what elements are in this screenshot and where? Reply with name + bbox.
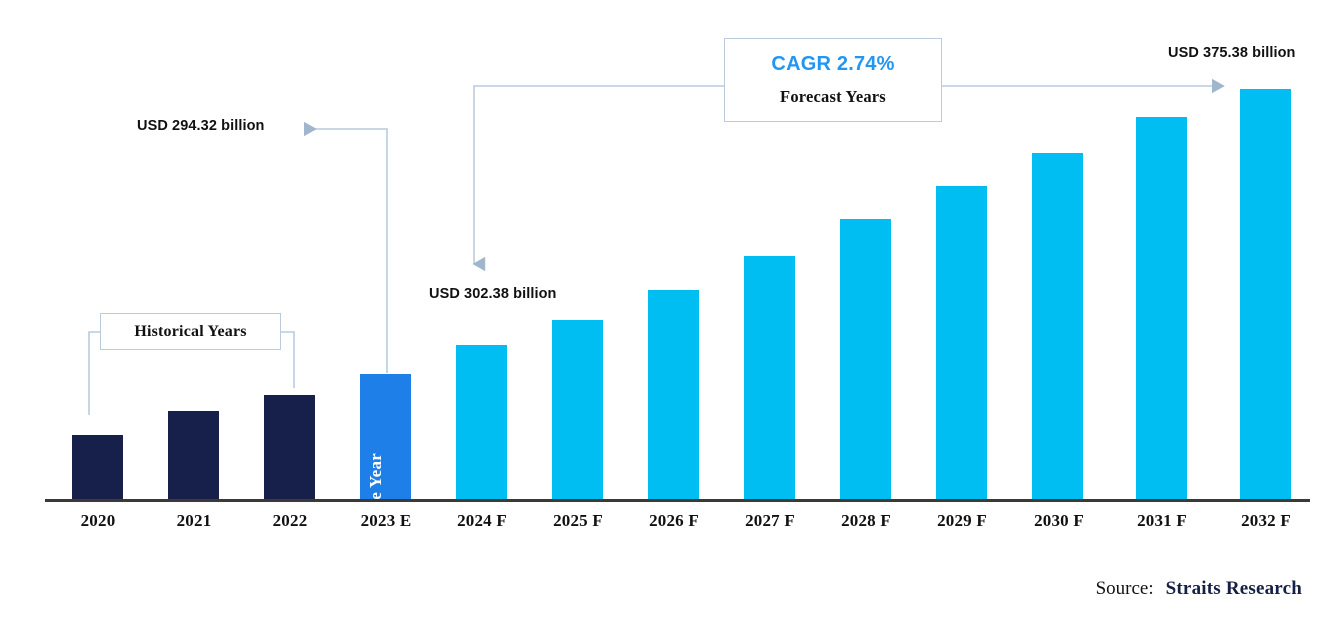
bar-2020[interactable] — [72, 435, 123, 500]
historical-years-label: Historical Years — [134, 323, 246, 341]
tick-label-2027-f: 2027 F — [722, 511, 818, 531]
tick-label-2024-f: 2024 F — [434, 511, 530, 531]
tick-label-2021: 2021 — [146, 511, 242, 531]
tick-label-2029-f: 2029 F — [914, 511, 1010, 531]
base-year-value-annotation: USD 294.32 billion — [137, 118, 265, 134]
forecast-years-label: Forecast Years — [780, 87, 886, 107]
bar-2027-f[interactable] — [744, 256, 795, 500]
tick-label-2028-f: 2028 F — [818, 511, 914, 531]
x-axis-line — [45, 499, 1310, 502]
bar-2025-f[interactable] — [552, 320, 603, 500]
tick-label-2025-f: 2025 F — [530, 511, 626, 531]
bar-2032-f[interactable] — [1240, 89, 1291, 500]
bar-2031-f[interactable] — [1136, 117, 1187, 500]
source-attribution: Source: Straits Research — [1096, 578, 1302, 600]
source-name: Straits Research — [1166, 578, 1302, 600]
cagr-callout-box: CAGR 2.74% Forecast Years — [724, 38, 942, 122]
tick-label-2023-e: 2023 E — [338, 511, 434, 531]
tick-label-2032-f: 2032 F — [1218, 511, 1314, 531]
source-prefix: Source: — [1096, 578, 1154, 600]
bar-2022[interactable] — [264, 395, 315, 500]
final-forecast-value-annotation: USD 375.38 billion — [1168, 45, 1296, 61]
bar-chart: Base Year 2020 2021 2022 2023 E 2024 F 2… — [0, 0, 1320, 618]
tick-label-2026-f: 2026 F — [626, 511, 722, 531]
historical-years-box: Historical Years — [100, 313, 281, 350]
tick-label-2031-f: 2031 F — [1114, 511, 1210, 531]
bar-2021[interactable] — [168, 411, 219, 500]
bar-2028-f[interactable] — [840, 219, 891, 500]
tick-label-2020: 2020 — [50, 511, 146, 531]
bar-2023-e[interactable]: Base Year — [360, 374, 411, 500]
bar-2026-f[interactable] — [648, 290, 699, 500]
tick-label-2030-f: 2030 F — [1011, 511, 1107, 531]
bar-2029-f[interactable] — [936, 186, 987, 500]
cagr-value: CAGR 2.74% — [771, 53, 894, 76]
bar-2024-f[interactable] — [456, 345, 507, 500]
tick-label-2022: 2022 — [242, 511, 338, 531]
first-forecast-value-annotation: USD 302.38 billion — [429, 286, 557, 302]
bar-2030-f[interactable] — [1032, 153, 1083, 500]
